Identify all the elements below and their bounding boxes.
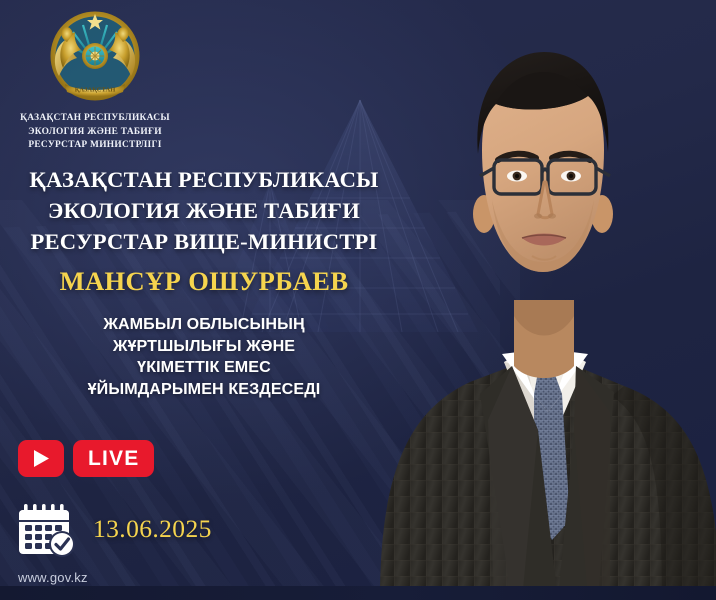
ministry-branding: ҚАЗАҚСТАН ҚАЗАҚСТАН РЕСПУБЛИКАСЫ ЭКОЛОГИ… <box>0 8 190 153</box>
calendar-check-icon <box>16 500 80 558</box>
event-description: ЖАМБЫЛ ОБЛЫСЫНЫҢ ЖҰРТШЫЛЫҒЫ ЖӘНЕ ҮКІМЕТТ… <box>14 314 394 400</box>
headline-line-2: ЭКОЛОГИЯ ЖӘНЕ ТАБИҒИ <box>14 195 394 226</box>
ministry-name: ҚАЗАҚСТАН РЕСПУБЛИКАСЫ ЭКОЛОГИЯ ЖӘНЕ ТАБ… <box>0 112 190 153</box>
broadcast-announcement-poster: ҚАЗАҚСТАН ҚАЗАҚСТАН РЕСПУБЛИКАСЫ ЭКОЛОГИ… <box>0 0 716 600</box>
portrait-photo <box>362 0 716 600</box>
play-button[interactable] <box>18 440 64 477</box>
event-date: 13.06.2025 <box>93 514 212 544</box>
ministry-line-2: ЭКОЛОГИЯ ЖӘНЕ ТАБИҒИ <box>0 126 190 140</box>
headline-line-3: РЕСУРСТАР ВИЦЕ-МИНИСТРІ <box>14 226 394 257</box>
ministry-line-3: РЕСУРСТАР МИНИСТРЛІГІ <box>0 139 190 153</box>
ministry-line-1: ҚАЗАҚСТАН РЕСПУБЛИКАСЫ <box>0 112 190 126</box>
subtitle-line-2: ЖҰРТШЫЛЫҒЫ ЖӘНЕ <box>14 336 394 358</box>
play-icon <box>33 449 50 468</box>
page-title: ҚАЗАҚСТАН РЕСПУБЛИКАСЫ ЭКОЛОГИЯ ЖӘНЕ ТАБ… <box>14 164 394 257</box>
live-badge: LIVE <box>73 440 154 477</box>
subtitle-line-1: ЖАМБЫЛ ОБЛЫСЫНЫҢ <box>14 314 394 336</box>
kazakhstan-coat-of-arms-icon: ҚАЗАҚСТАН <box>39 8 151 104</box>
event-date-row: 13.06.2025 <box>16 500 212 558</box>
subtitle-line-3: ҮКІМЕТТІК ЕМЕС <box>14 357 394 379</box>
person-name: МАНСҰР ОШУРБАЕВ <box>14 264 394 298</box>
website-url[interactable]: www.gov.kz <box>18 570 88 585</box>
bottom-bar <box>0 586 716 600</box>
svg-text:ҚАЗАҚСТАН: ҚАЗАҚСТАН <box>75 87 116 94</box>
headline-line-1: ҚАЗАҚСТАН РЕСПУБЛИКАСЫ <box>14 164 394 195</box>
live-badge-group: LIVE <box>18 440 154 477</box>
subtitle-line-4: ҰЙЫМДАРЫМЕН КЕЗДЕСЕДІ <box>14 379 394 401</box>
